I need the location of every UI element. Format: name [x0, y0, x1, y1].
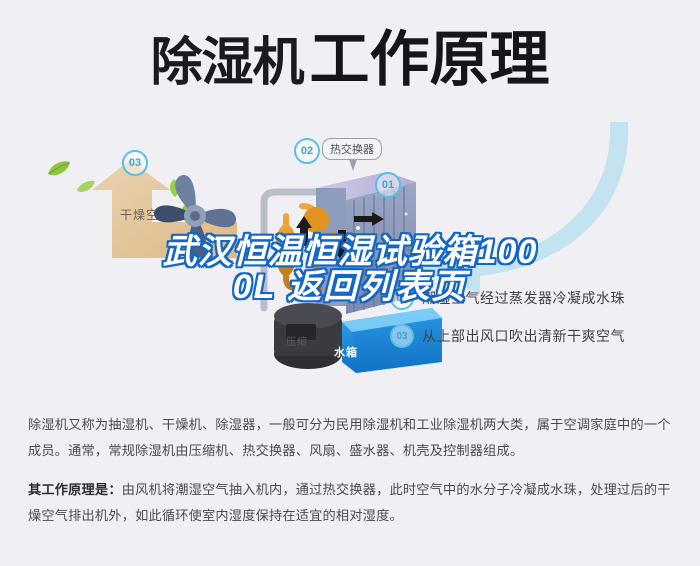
fan-icon — [140, 166, 250, 266]
header: 除湿机 工作原理 — [0, 0, 700, 120]
water-tank-label: 水箱 — [334, 344, 358, 360]
legend-badge-03: 03 — [390, 324, 414, 348]
moist-air-arrow — [360, 122, 660, 297]
legend-list: 02 潮湿空气经过蒸发器冷凝成水珠 03 从上部出风口吹出清新干爽空气 — [390, 286, 690, 362]
page-title-part1: 除湿机 — [150, 37, 303, 89]
legend-item: 03 从上部出风口吹出清新干爽空气 — [390, 324, 690, 348]
page-title: 除湿机 工作原理 — [150, 30, 549, 90]
page-title-part2: 工作原理 — [310, 30, 550, 90]
badge-01-diagram: 01 — [375, 172, 401, 198]
description-body: 除湿机又称为抽湿机、干燥机、除湿器，一般可分为民用除湿机和工业除湿机两大类，属于… — [28, 412, 676, 542]
legend-text-03: 从上部出风口吹出清新干爽空气 — [422, 326, 625, 346]
paragraph-2: 其工作原理是：由风机将潮湿空气抽入机内，通过热交换器，此时空气中的水分子冷凝成水… — [28, 477, 676, 530]
legend-text-02: 潮湿空气经过蒸发器冷凝成水珠 — [422, 288, 625, 308]
paragraph-1: 除湿机又称为抽湿机、干燥机、除湿器，一般可分为民用除湿机和工业除湿机两大类，属于… — [28, 412, 676, 465]
paragraph-2-rest: 由风机将潮湿空气抽入机内，通过热交换器，此时空气中的水分子冷凝成水珠，处理过后的… — [28, 482, 671, 523]
moist-air-label: 潮湿空气 — [398, 240, 450, 257]
principle-diagram: 干燥空气 03 热交换器 02 — [0, 118, 700, 390]
legend-item: 02 潮湿空气经过蒸发器冷凝成水珠 — [390, 286, 690, 310]
legend-badge-02: 02 — [390, 286, 414, 310]
page-root: 除湿机 工作原理 干燥空气 — [0, 0, 700, 566]
compressor-label: 压缩 — [286, 333, 308, 348]
paragraph-2-lead: 其工作原理是： — [28, 482, 122, 497]
